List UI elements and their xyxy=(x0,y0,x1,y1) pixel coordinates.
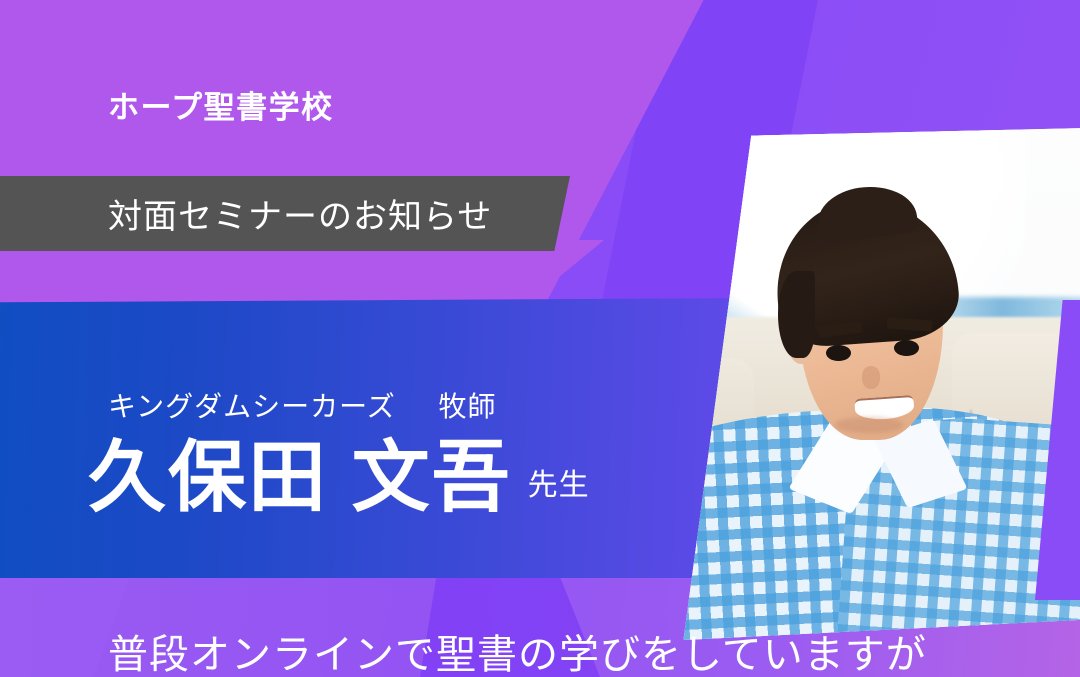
seminar-announcement-banner: ホープ聖書学校 対面セミナーのお知らせ キングダムシーカーズ 牧師 久保田 文吾… xyxy=(0,0,1080,677)
speaker-org-name: キングダムシーカーズ xyxy=(108,391,396,422)
bottom-caption: 普段オンラインで聖書の学びをしていますが xyxy=(108,622,927,677)
headline-text: 対面セミナーのお知らせ xyxy=(108,189,492,238)
photo-eye-left xyxy=(826,345,851,361)
speaker-honorific: 先生 xyxy=(528,460,590,504)
photo-hair-sideburn xyxy=(778,271,814,358)
speaker-role: 牧師 xyxy=(439,391,497,422)
photo-eye-right xyxy=(894,340,919,356)
speaker-name: 久保田 文吾 xyxy=(88,440,512,514)
photo-nose xyxy=(862,366,880,389)
photo-chin-shadow xyxy=(835,417,903,432)
headline-banner: 対面セミナーのお知らせ xyxy=(0,176,570,251)
speaker-name-row: 久保田 文吾 先生 xyxy=(88,440,590,514)
school-name: ホープ聖書学校 xyxy=(108,82,334,127)
speaker-org-line: キングダムシーカーズ 牧師 xyxy=(108,385,497,425)
